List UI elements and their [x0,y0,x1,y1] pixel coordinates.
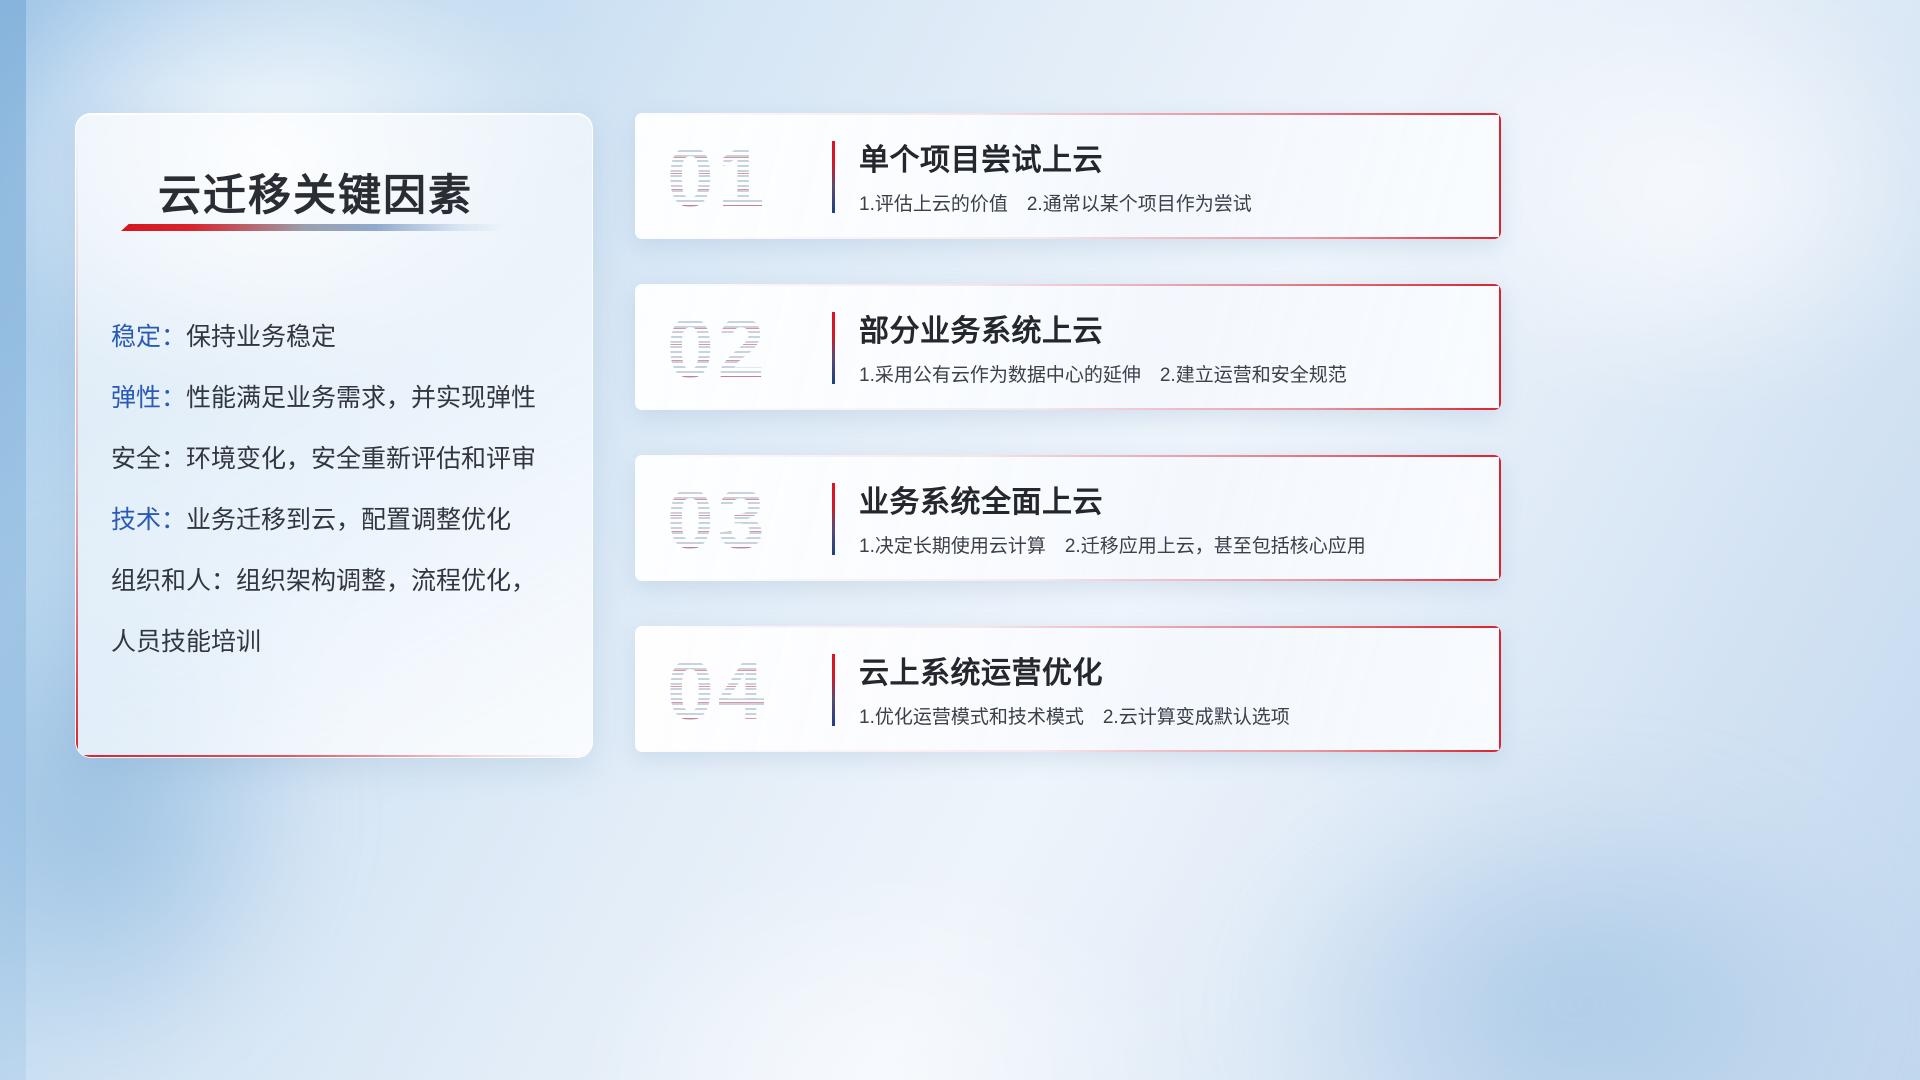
key-factor-label: 稳定： [111,317,186,353]
key-factor-text-continued: 人员技能培训 [111,622,261,658]
card-top-accent-line [635,284,1501,286]
key-factor-text: 性能满足业务需求，并实现弹性 [186,378,536,414]
step-subtitle: 1.决定长期使用云计算 2.迁移应用上云，甚至包括核心应用 [859,531,1366,558]
step-title: 单个项目尝试上云 [859,135,1103,179]
card-divider-bar [832,312,835,384]
key-factor-text: 环境变化，安全重新评估和评审 [186,439,536,475]
key-factor-item: 弹性：性能满足业务需求，并实现弹性 [111,365,572,426]
step-subtitle: 1.优化运营模式和技术模式 2.云计算变成默认选项 [859,702,1290,729]
key-factor-text: 组织架构调整，流程优化， [236,561,536,597]
card-top-accent-line [635,455,1501,457]
key-factor-label: 弹性： [111,378,186,414]
step-card[interactable]: 0303业务系统全面上云1.决定长期使用云计算 2.迁移应用上云，甚至包括核心应… [635,455,1501,581]
key-factor-label: 组织和人： [111,561,236,597]
key-factor-label: 安全： [111,439,186,475]
title-underline-gradient [121,224,506,231]
key-factor-item: 安全：环境变化，安全重新评估和评审 [111,426,572,487]
card-bottom-accent-line [635,408,1501,410]
key-factor-text: 保持业务稳定 [186,317,336,353]
card-bottom-accent-line [635,750,1501,752]
key-factor-item: 人员技能培训 [111,609,572,670]
key-factors-panel: 云迁移关键因素 稳定：保持业务稳定弹性：性能满足业务需求，并实现弹性安全：环境变… [75,113,593,758]
key-factor-item: 稳定：保持业务稳定 [111,304,572,365]
card-divider-bar [832,483,835,555]
step-title: 部分业务系统上云 [859,306,1103,350]
step-card[interactable]: 0404云上系统运营优化1.优化运营模式和技术模式 2.云计算变成默认选项 [635,626,1501,752]
step-subtitle: 1.采用公有云作为数据中心的延伸 2.建立运营和安全规范 [859,360,1347,387]
step-number-watermark-tint: 03 [667,467,817,571]
page-title: 云迁移关键因素 [158,161,473,223]
step-subtitle: 1.评估上云的价值 2.通常以某个项目作为尝试 [859,189,1252,216]
card-divider-bar [832,654,835,726]
step-card[interactable]: 0101单个项目尝试上云1.评估上云的价值 2.通常以某个项目作为尝试 [635,113,1501,239]
step-title: 业务系统全面上云 [859,477,1103,521]
step-card[interactable]: 0202部分业务系统上云1.采用公有云作为数据中心的延伸 2.建立运营和安全规范 [635,284,1501,410]
background-glow-bottom-center [461,778,1306,1080]
card-divider-bar [832,141,835,213]
key-factor-label: 技术： [111,500,186,536]
card-top-accent-line [635,113,1501,115]
step-number-watermark-tint: 04 [667,638,817,742]
background-left-band [0,0,26,1080]
card-bottom-accent-line [635,237,1501,239]
step-title: 云上系统运营优化 [859,648,1103,692]
key-factor-text: 业务迁移到云，配置调整优化 [186,500,511,536]
key-factor-item: 组织和人：组织架构调整，流程优化， [111,548,572,609]
step-number-watermark-tint: 01 [667,125,817,229]
cloud-migration-steps: 0101单个项目尝试上云1.评估上云的价值 2.通常以某个项目作为尝试0202部… [635,113,1501,797]
key-factors-list: 稳定：保持业务稳定弹性：性能满足业务需求，并实现弹性安全：环境变化，安全重新评估… [111,304,572,670]
card-bottom-accent-line [635,579,1501,581]
key-factor-item: 技术：业务迁移到云，配置调整优化 [111,487,572,548]
step-number-watermark-tint: 02 [667,296,817,400]
card-top-accent-line [635,626,1501,628]
